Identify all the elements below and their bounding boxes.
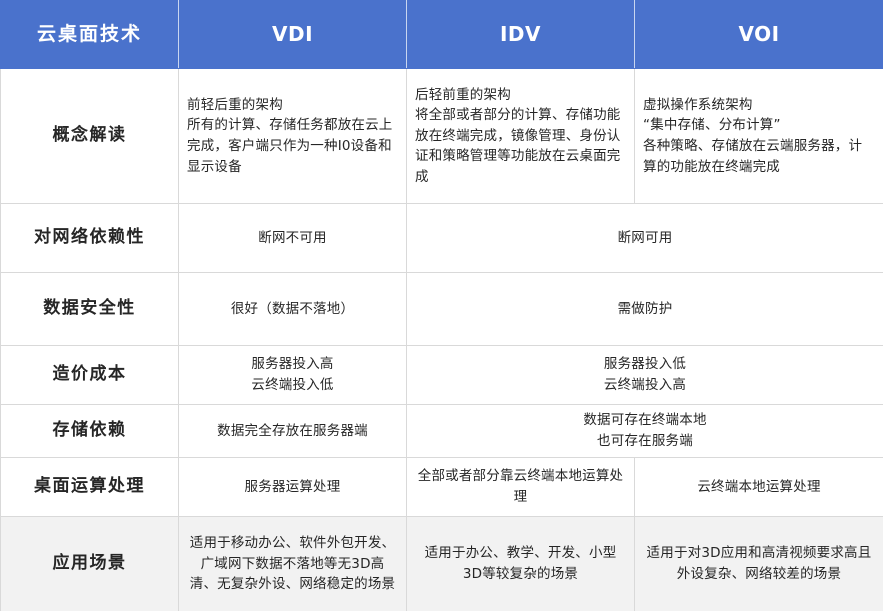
cell-concept-vdi: 前轻后重的架构 所有的计算、存储任务都放在云上完成，客户端只作为一种I0设备和显… [179, 69, 407, 204]
cell-text: 服务器投入低 云终端投入高 [415, 354, 875, 395]
cell-text: 断网不可用 [187, 228, 398, 249]
cell-security-idv-voi-merged: 需做防护 [407, 273, 883, 346]
cell-security-vdi: 很好（数据不落地） [179, 273, 407, 346]
table-header-row: 云桌面技术 VDI IDV VOI [1, 1, 883, 69]
row-label-cost: 造价成本 [1, 346, 179, 405]
cloud-desktop-comparison-table: 云桌面技术 VDI IDV VOI 概念解读 前轻后重的架构 所有的计算、存储任… [0, 0, 883, 611]
cell-text: 数据可存在终端本地 也可存在服务端 [415, 410, 875, 451]
cell-scenario-voi: 适用于对3D应用和高清视频要求高且外设复杂、网络较差的场景 [635, 517, 883, 611]
cell-text: 适用于移动办公、软件外包开发、广域网下数据不落地等无3D高清、无复杂外设、网络稳… [187, 533, 398, 595]
cell-text: 需做防护 [415, 299, 875, 320]
table-row: 桌面运算处理 服务器运算处理 全部或者部分靠云终端本地运算处理 云终端本地运算处… [1, 458, 883, 517]
cell-text: 前轻后重的架构 所有的计算、存储任务都放在云上完成，客户端只作为一种I0设备和显… [187, 95, 398, 177]
cell-cost-idv-voi-merged: 服务器投入低 云终端投入高 [407, 346, 883, 405]
table-row: 造价成本 服务器投入高 云终端投入低 服务器投入低 云终端投入高 [1, 346, 883, 405]
table-row: 概念解读 前轻后重的架构 所有的计算、存储任务都放在云上完成，客户端只作为一种I… [1, 69, 883, 204]
table-row: 对网络依赖性 断网不可用 断网可用 [1, 204, 883, 273]
cell-network-idv-voi-merged: 断网可用 [407, 204, 883, 273]
cell-concept-voi: 虚拟操作系统架构 “集中存储、分布计算” 各种策略、存储放在云端服务器，计算的功… [635, 69, 883, 204]
table-row: 存储依赖 数据完全存放在服务器端 数据可存在终端本地 也可存在服务端 [1, 405, 883, 458]
cell-storage-idv-voi-merged: 数据可存在终端本地 也可存在服务端 [407, 405, 883, 458]
cell-text: 服务器运算处理 [187, 477, 398, 498]
cell-text: 后轻前重的架构 将全部或者部分的计算、存储功能放在终端完成，镜像管理、身份认证和… [415, 85, 626, 188]
cell-scenario-idv: 适用于办公、教学、开发、小型3D等较复杂的场景 [407, 517, 635, 611]
table-row: 应用场景 适用于移动办公、软件外包开发、广域网下数据不落地等无3D高清、无复杂外… [1, 517, 883, 611]
header-cell-idv: IDV [407, 1, 635, 69]
cell-compute-vdi: 服务器运算处理 [179, 458, 407, 517]
row-label-storage-dependency: 存储依赖 [1, 405, 179, 458]
cell-cost-vdi: 服务器投入高 云终端投入低 [179, 346, 407, 405]
row-label-desktop-compute: 桌面运算处理 [1, 458, 179, 517]
cell-text: 适用于办公、教学、开发、小型3D等较复杂的场景 [415, 543, 626, 584]
comparison-table-page: 云桌面技术 VDI IDV VOI 概念解读 前轻后重的架构 所有的计算、存储任… [0, 0, 883, 611]
cell-compute-idv: 全部或者部分靠云终端本地运算处理 [407, 458, 635, 517]
header-cell-vdi: VDI [179, 1, 407, 69]
cell-text: 服务器投入高 云终端投入低 [187, 354, 398, 395]
cell-text: 虚拟操作系统架构 “集中存储、分布计算” 各种策略、存储放在云端服务器，计算的功… [643, 95, 875, 177]
cell-concept-idv: 后轻前重的架构 将全部或者部分的计算、存储功能放在终端完成，镜像管理、身份认证和… [407, 69, 635, 204]
cell-network-vdi: 断网不可用 [179, 204, 407, 273]
cell-text: 全部或者部分靠云终端本地运算处理 [415, 466, 626, 507]
table-row: 数据安全性 很好（数据不落地） 需做防护 [1, 273, 883, 346]
row-label-network-dependency: 对网络依赖性 [1, 204, 179, 273]
cell-text: 断网可用 [415, 228, 875, 249]
cell-compute-voi: 云终端本地运算处理 [635, 458, 883, 517]
cell-storage-vdi: 数据完全存放在服务器端 [179, 405, 407, 458]
row-label-data-security: 数据安全性 [1, 273, 179, 346]
cell-scenario-vdi: 适用于移动办公、软件外包开发、广域网下数据不落地等无3D高清、无复杂外设、网络稳… [179, 517, 407, 611]
cell-text: 云终端本地运算处理 [643, 477, 875, 498]
cell-text: 很好（数据不落地） [187, 299, 398, 320]
header-cell-voi: VOI [635, 1, 883, 69]
row-label-concept: 概念解读 [1, 69, 179, 204]
cell-text: 适用于对3D应用和高清视频要求高且外设复杂、网络较差的场景 [643, 543, 875, 584]
cell-text: 数据完全存放在服务器端 [187, 421, 398, 442]
row-label-use-case: 应用场景 [1, 517, 179, 611]
header-cell-technology: 云桌面技术 [1, 1, 179, 69]
